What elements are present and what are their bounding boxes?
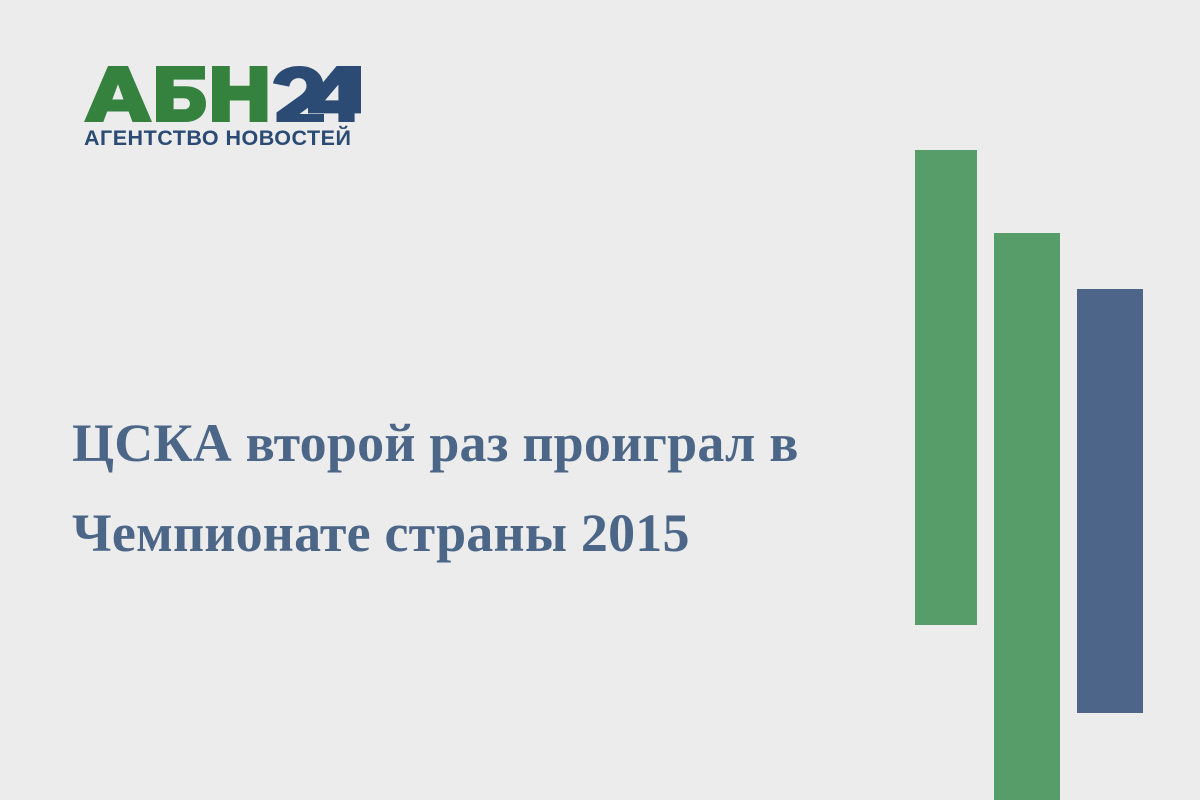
headline-line-2: Чемпионате страны 2015: [72, 488, 872, 578]
decorative-bar-3: [1077, 289, 1143, 713]
decorative-bar-2: [994, 233, 1060, 800]
news-card: АГЕНТСТВО НОВОСТЕЙ ЦСКА второй раз проиг…: [0, 0, 1200, 800]
headline-line-1: ЦСКА второй раз проиграл в: [72, 398, 872, 488]
decorative-bar-1: [915, 150, 977, 625]
brand-tagline: АГЕНТСТВО НОВОСТЕЙ: [84, 128, 374, 150]
abn24-logotype-icon: [84, 66, 361, 122]
headline: ЦСКА второй раз проиграл в Чемпионате ст…: [72, 398, 872, 578]
brand-logo[interactable]: АГЕНТСТВО НОВОСТЕЙ: [84, 66, 374, 156]
